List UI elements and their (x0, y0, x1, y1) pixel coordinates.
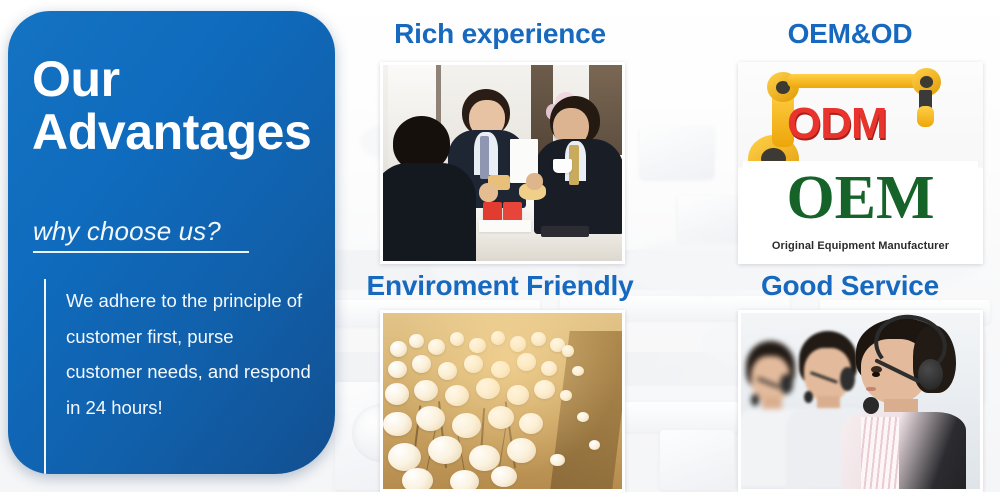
cell-title-good-service: Good Service (700, 270, 1000, 302)
panel-body-text: We adhere to the principle of customer f… (66, 283, 314, 425)
panel-title-line2: Advantages (32, 106, 322, 159)
cell-rich-experience: Rich experience (350, 18, 650, 264)
oem-caption: Original Equipment Manufacturer (738, 240, 983, 252)
oem-odm-logo: ODM OEM Original Equipment Manufacturer (738, 62, 983, 264)
business-meeting-photo (380, 62, 625, 264)
cell-title-oem-odm: OEM&OD (700, 18, 1000, 50)
cell-good-service: Good Service (700, 270, 1000, 492)
odm-wordmark: ODM (787, 102, 887, 146)
call-center-agents-photo (738, 310, 983, 492)
cell-title-enviroment-friendly: Enviroment Friendly (350, 270, 650, 302)
panel-vertical-rule (44, 279, 46, 474)
cell-title-rich-experience: Rich experience (350, 18, 650, 50)
panel-title: Our Advantages (32, 53, 322, 159)
panel-subtitle: why choose us? (33, 216, 221, 247)
panel-subtitle-underline (33, 251, 249, 253)
our-advantages-panel: Our Advantages why choose us? We adhere … (8, 11, 335, 474)
cell-enviroment-friendly: Enviroment Friendly (350, 270, 650, 492)
cell-oem-odm: OEM&OD ODM OEM Original Equipment Manufa… (700, 18, 1000, 264)
oem-wordmark: OEM (738, 167, 983, 229)
advantages-banner: Our Advantages why choose us? We adhere … (0, 0, 1000, 492)
panel-title-line1: Our (32, 51, 120, 107)
cotton-field-photo (380, 310, 625, 492)
